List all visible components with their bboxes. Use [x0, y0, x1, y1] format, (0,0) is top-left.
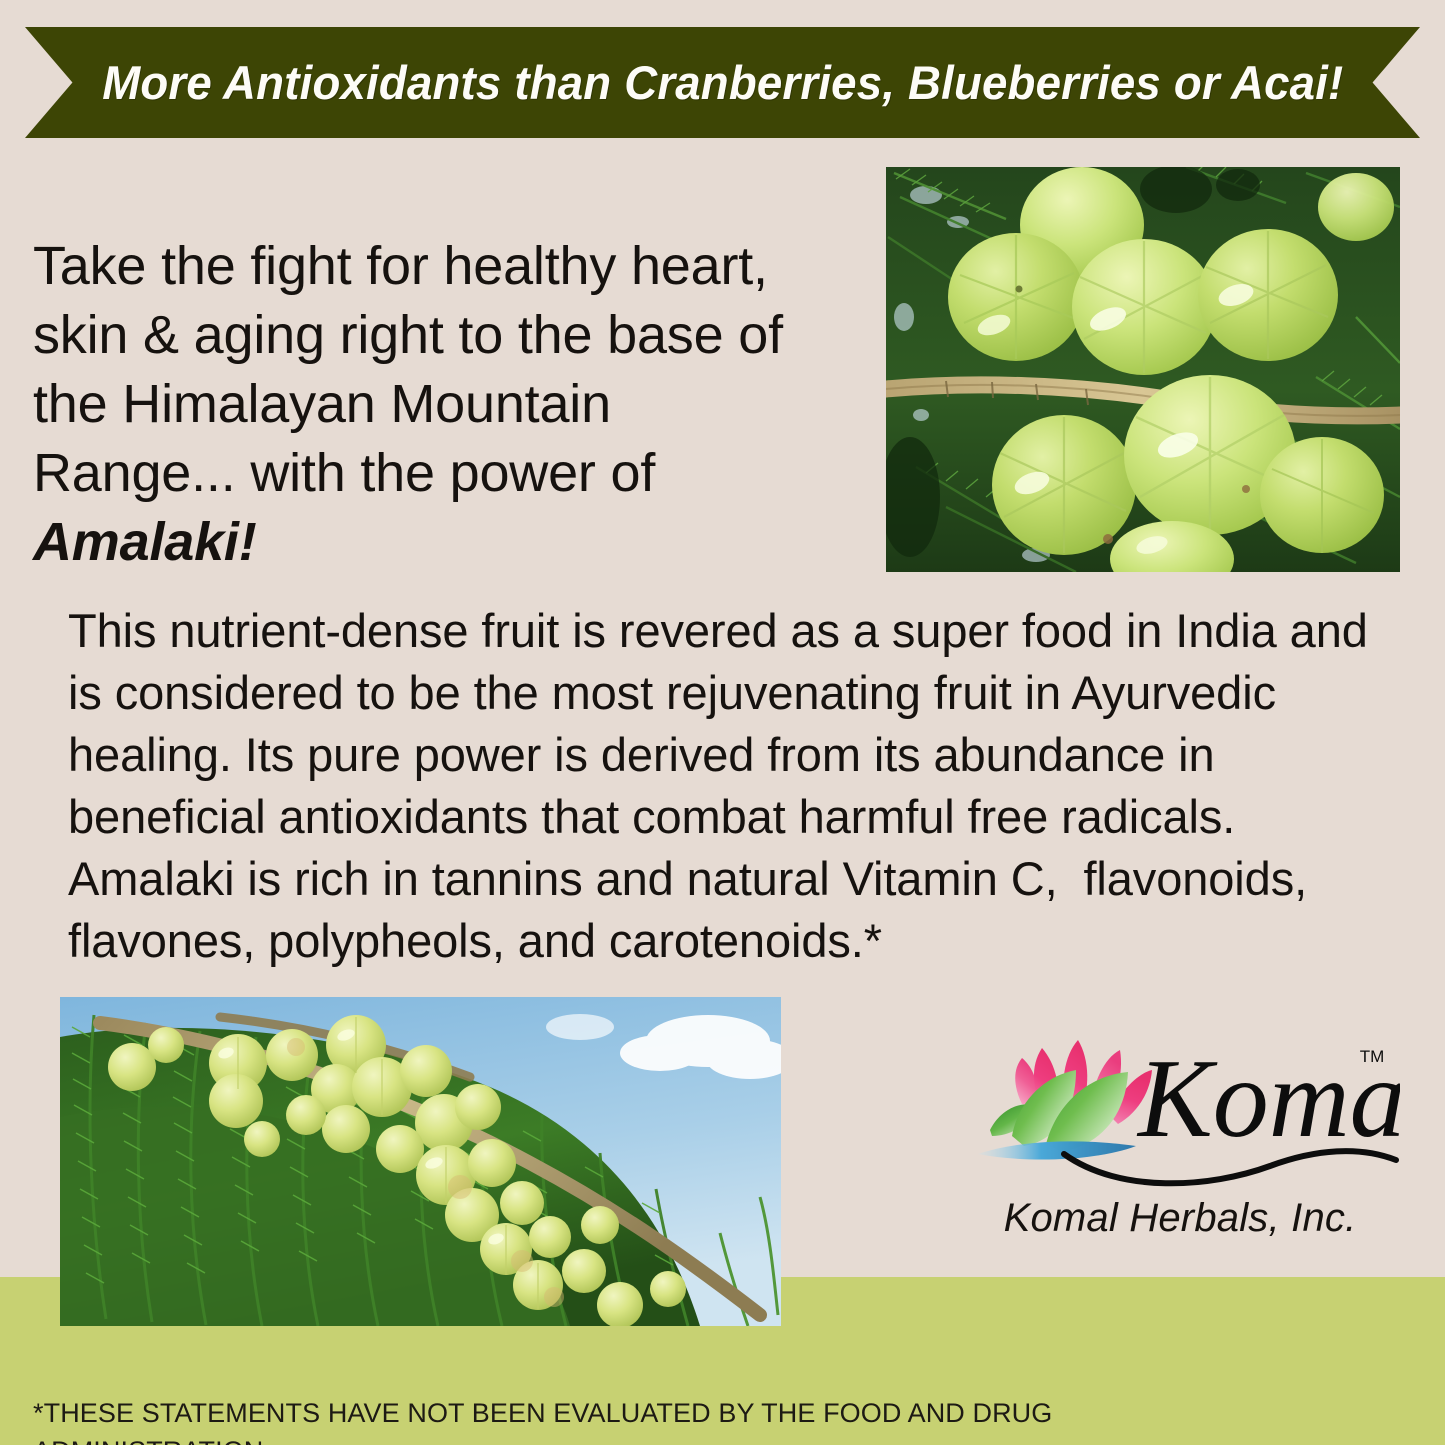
lotus-flower-icon [978, 1040, 1152, 1160]
headline-line-4: Range... with the power of Amalaki! [33, 439, 863, 577]
headline-emphasis-amalaki: Amalaki! [33, 512, 257, 572]
amla-tree-branch-photo [60, 997, 781, 1326]
disclaimer-line-1: *THESE STATEMENTS HAVE NOT BEEN EVALUATE… [33, 1398, 1052, 1445]
headline-banner: More Antioxidants than Cranberries, Blue… [25, 27, 1420, 138]
amla-tree-branch-illustration [60, 997, 781, 1326]
banner-headline-text: More Antioxidants than Cranberries, Blue… [102, 55, 1343, 110]
body-paragraph: This nutrient-dense fruit is revered as … [68, 600, 1398, 972]
komal-logo-svg: Komal TM [960, 1018, 1400, 1188]
headline-line-2: skin & aging right to the base of [33, 301, 863, 370]
headline-line-1: Take the fight for healthy heart, [33, 232, 863, 301]
komal-logo: Komal TM [960, 1018, 1400, 1188]
poster-root: More Antioxidants than Cranberries, Blue… [0, 0, 1445, 1445]
amla-fruit-closeup-illustration [886, 167, 1400, 572]
headline-line-4-prefix: Range... with the power of [33, 443, 655, 503]
headline-line-3: the Himalayan Mountain [33, 370, 863, 439]
headline-block: Take the fight for healthy heart, skin &… [33, 232, 863, 577]
amla-fruit-closeup-photo [886, 167, 1400, 572]
company-tagline: Komal Herbals, Inc. [960, 1196, 1400, 1241]
fda-disclaimer: *THESE STATEMENTS HAVE NOT BEEN EVALUATE… [33, 1356, 1213, 1445]
trademark-symbol: TM [1360, 1047, 1385, 1066]
